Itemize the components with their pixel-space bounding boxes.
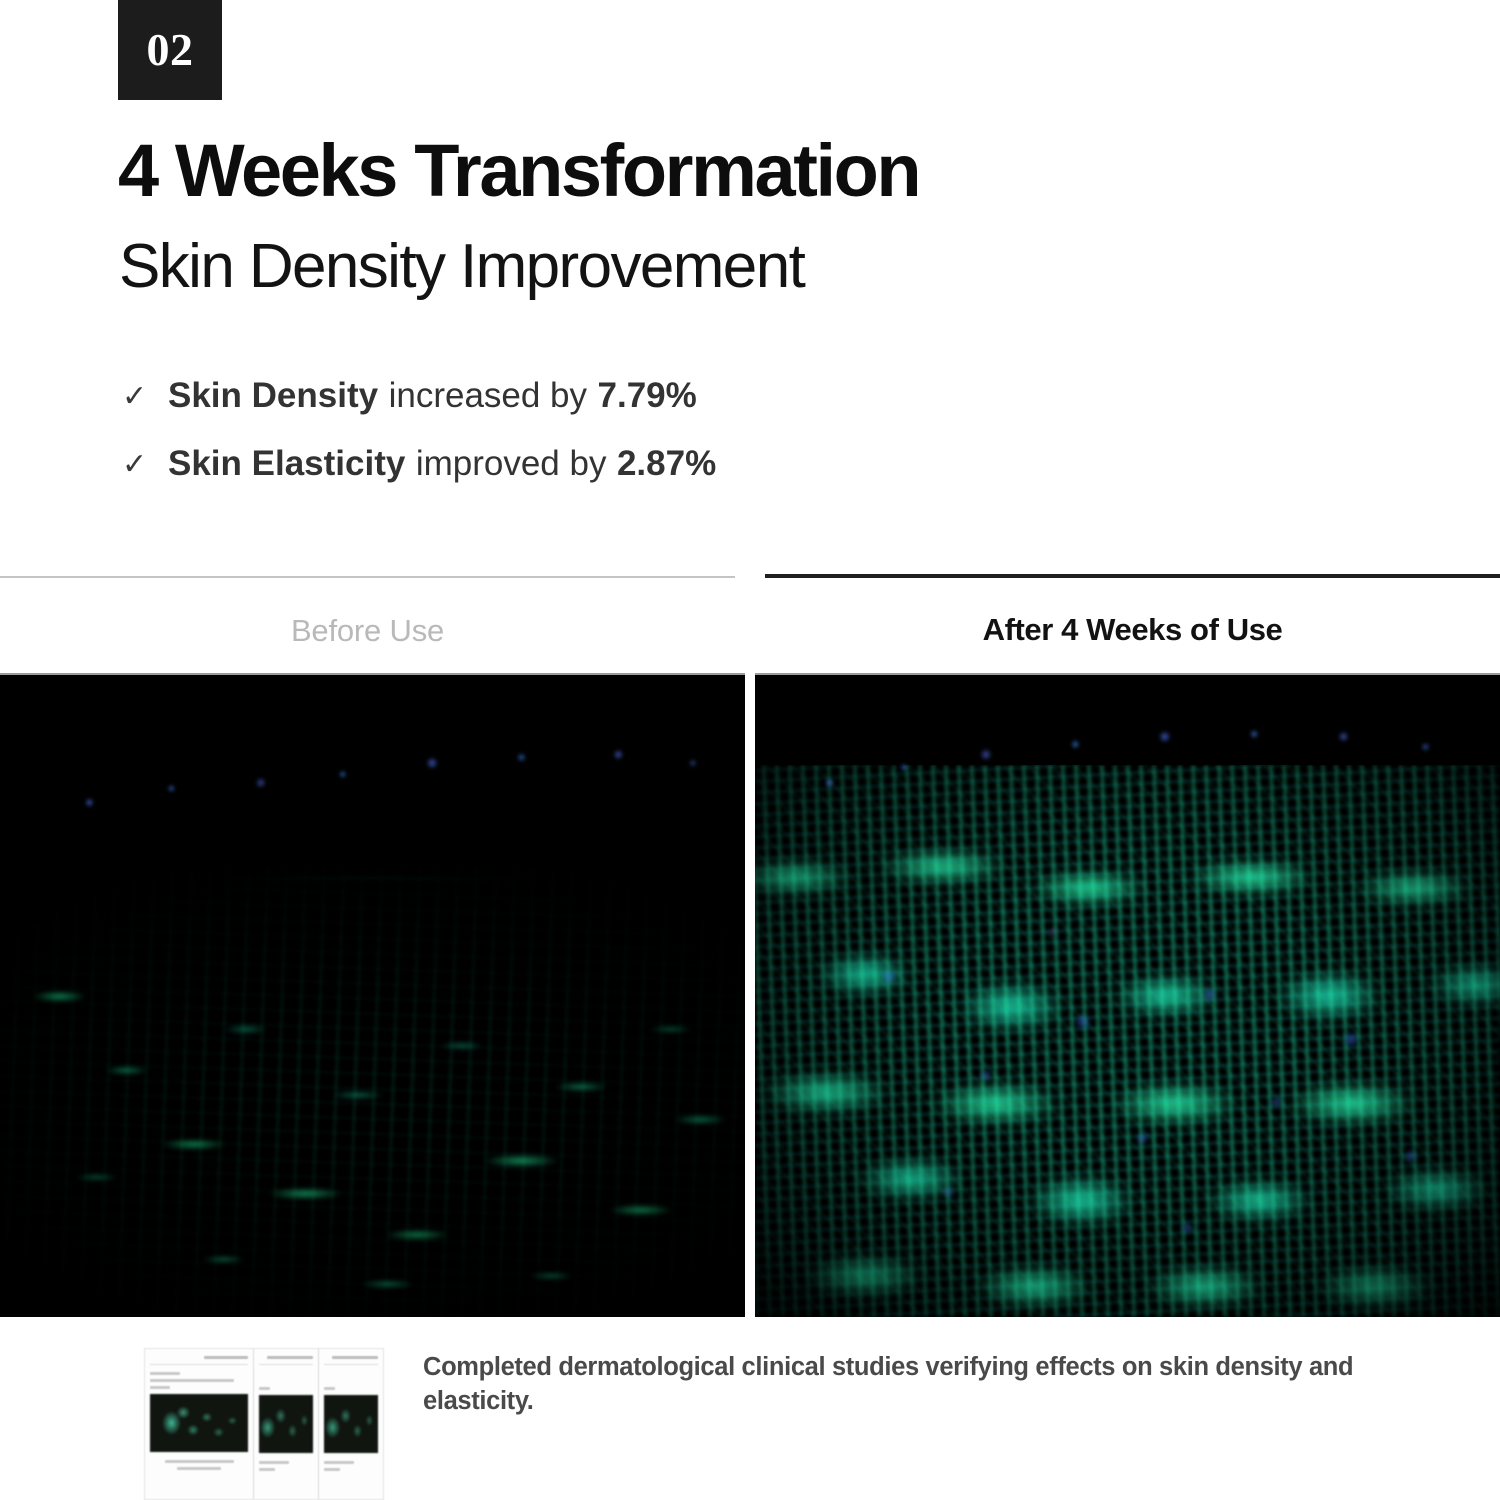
ultrasound-image-before: [0, 673, 745, 1317]
report-pages: [145, 1349, 383, 1499]
after-column-label: After 4 Weeks of Use: [765, 612, 1500, 648]
text-line: [259, 1461, 288, 1464]
section-number-label: 02: [147, 27, 194, 73]
before-column-rule: [0, 576, 735, 578]
text-line: [204, 1356, 248, 1359]
text-line: [150, 1379, 234, 1382]
text-line: [324, 1387, 335, 1390]
report-page: [319, 1349, 383, 1499]
text-line: [324, 1461, 354, 1464]
claim-metric: Skin Density: [168, 376, 378, 415]
text-line: [165, 1460, 234, 1463]
claim-value: 2.87%: [617, 444, 716, 483]
page-subtitle: Skin Density Improvement: [119, 236, 804, 298]
footnote-caption: Completed dermatological clinical studie…: [423, 1351, 1418, 1419]
text-line: [259, 1387, 270, 1390]
divider: [150, 1364, 248, 1365]
text-line: [259, 1468, 275, 1471]
image-vignette: [755, 675, 1500, 1317]
checkmark-icon: ✓: [122, 450, 168, 480]
divider: [324, 1364, 378, 1365]
image-vignette: [0, 675, 745, 1317]
claim-label: Skin Elasticityimproved by2.87%: [168, 446, 716, 481]
claim-verb: increased by: [389, 376, 587, 415]
report-thumb-image: [324, 1395, 378, 1453]
report-thumb-image: [150, 1394, 248, 1452]
claim-label: Skin Densityincreased by7.79%: [168, 378, 697, 413]
text-line: [267, 1356, 312, 1359]
divider: [259, 1364, 312, 1365]
claim-value: 7.79%: [598, 376, 697, 415]
report-page: [145, 1349, 254, 1499]
list-item: ✓ Skin Densityincreased by7.79%: [122, 378, 716, 413]
report-page: [254, 1349, 318, 1499]
list-item: ✓ Skin Elasticityimproved by2.87%: [122, 446, 716, 481]
report-thumb-image: [259, 1395, 312, 1453]
after-column-rule: [765, 574, 1500, 578]
before-column-label: Before Use: [0, 613, 735, 649]
claims-list: ✓ Skin Densityincreased by7.79% ✓ Skin E…: [122, 378, 716, 514]
text-line: [177, 1467, 221, 1470]
page-title: 4 Weeks Transformation: [118, 134, 919, 208]
checkmark-icon: ✓: [122, 382, 168, 412]
text-line: [150, 1372, 180, 1375]
ultrasound-image-after: [755, 673, 1500, 1317]
section-number-badge: 02: [118, 0, 222, 100]
text-line: [332, 1356, 378, 1359]
text-line: [150, 1386, 170, 1389]
section-4-weeks-transformation: 02 4 Weeks Transformation Skin Density I…: [0, 0, 1500, 1500]
text-line: [324, 1468, 340, 1471]
claim-verb: improved by: [416, 444, 607, 483]
claim-metric: Skin Elasticity: [168, 444, 405, 483]
clinical-report-thumbnail: [144, 1348, 384, 1500]
